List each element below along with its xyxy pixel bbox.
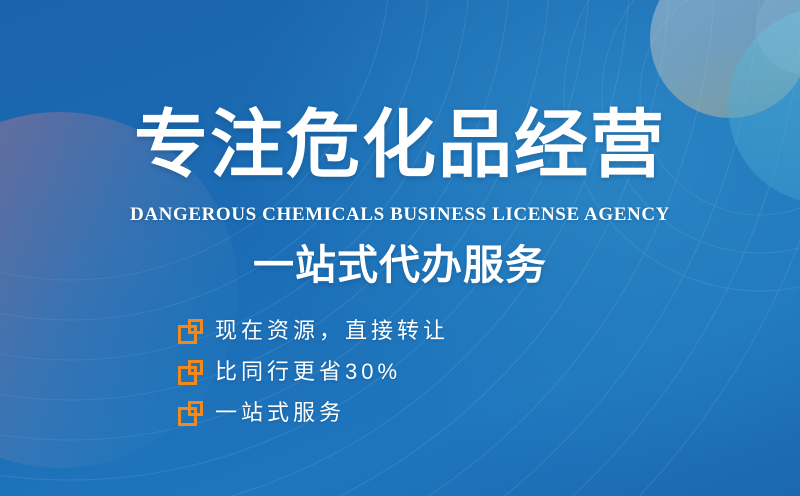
overlapping-squares-icon (178, 401, 203, 426)
list-item-label: 比同行更省30% (215, 361, 401, 383)
headline-subtitle-english: Dangerous Chemicals Business License Age… (0, 204, 800, 226)
list-item: 一站式服务 (178, 398, 449, 428)
promo-banner: 专注危化品经营 Dangerous Chemicals Business Lic… (0, 0, 800, 496)
headline-secondary: 一站式代办服务 (0, 243, 800, 288)
overlapping-squares-icon (178, 360, 203, 385)
list-item: 比同行更省30% (178, 357, 449, 387)
list-item: 现在资源，直接转让 (178, 316, 449, 346)
list-item-label: 现在资源，直接转让 (215, 320, 449, 342)
feature-list: 现在资源，直接转让 比同行更省30% 一站式服务 (178, 316, 449, 428)
list-item-label: 一站式服务 (215, 402, 345, 424)
headline-primary: 专注危化品经营 (0, 108, 800, 182)
overlapping-squares-icon (178, 319, 203, 344)
banner-content: 专注危化品经营 Dangerous Chemicals Business Lic… (0, 0, 800, 496)
